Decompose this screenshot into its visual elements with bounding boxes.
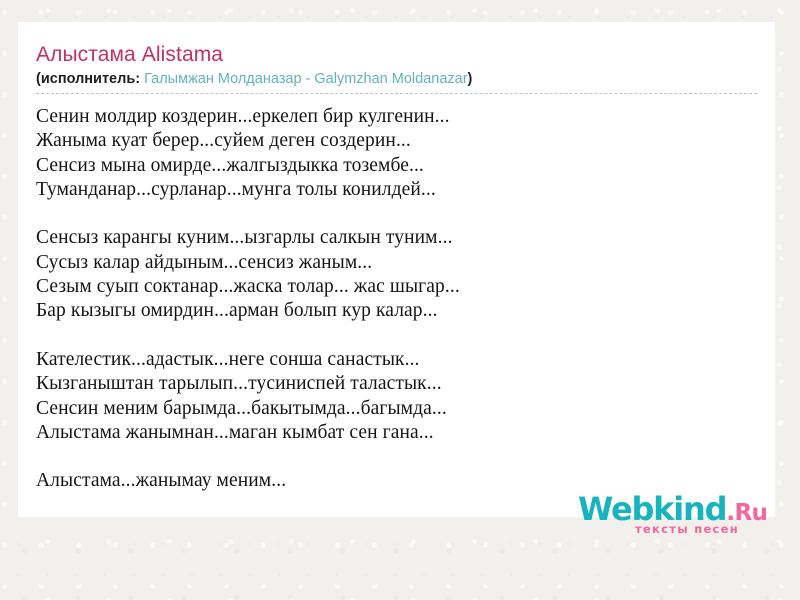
card-inner: Алыстама Alistama (исполнитель: Галымжан… [18,22,775,494]
lyric-line: Туманданар...сурланар...мунга толы конил… [36,178,757,202]
lyric-line: Бар кызыгы омирдин...арман болып кур кал… [36,299,757,323]
lyrics-stanza: Кателестик...адастык...неге сонша санаст… [36,348,757,445]
lyrics-stanza: Сенсыз каранг­ы куним...ызгарлы салкын т… [36,226,757,323]
lyric-line: Алыстама жанымнан...маган кымбат сен ган… [36,421,757,445]
site-logo[interactable]: Webkind.Ru тексты песен [578,492,778,539]
lyric-line: Жаныма куат берер...суйем деген создерин… [36,129,757,153]
lyric-line: Кателестик...адастык...неге сонша санаст… [36,348,757,372]
lyric-line: Сенсин меним барымда...бакытымда...багым… [36,397,757,421]
performer-row: (исполнитель: Галымжан Молданазар - Galy… [36,70,757,94]
performer-label: исполнитель: [41,71,144,87]
lyric-line: Кызганыштан тарылып...тусиниспей таласты… [36,372,757,396]
lyric-line: Сезым суып соктанар...жаска толар... жас… [36,275,757,299]
page-title: Алыстама Alistama [36,42,757,68]
lyrics-body: Сенин молдир коздерин...еркелеп бир кулг… [36,105,757,494]
lyrics-stanza: Сенин молдир коздерин...еркелеп бир кулг… [36,105,757,202]
lyric-line: Сенсыз каранг­ы куним...ызгарлы салкын т… [36,226,757,250]
lyric-line: Сенсиз мына омирде...жалгыздыкка тозембе… [36,154,757,178]
lyric-line: Сенин молдир коздерин...еркелеп бир кулг… [36,105,757,129]
artist-link[interactable]: Галымжан Молданазар - Galymzhan Moldanaz… [144,71,467,87]
lyrics-content-card: Алыстама Alistama (исполнитель: Галымжан… [18,22,775,517]
lyric-line: Сусыз калар айдыным...сенсиз жаным... [36,251,757,275]
close-paren: ) [468,71,473,87]
